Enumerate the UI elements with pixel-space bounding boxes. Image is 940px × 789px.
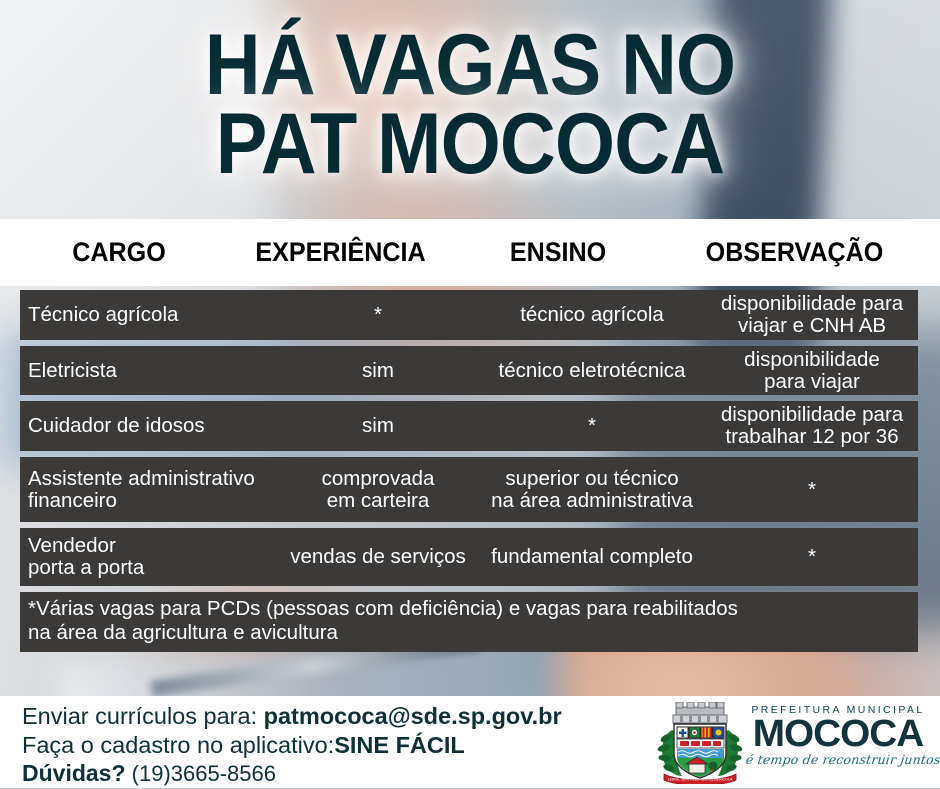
cell-cargo: Eletricista bbox=[20, 360, 278, 382]
cell-experiencia: vendas de serviços bbox=[278, 546, 478, 568]
page-title: HÁ VAGAS NO PAT MOCOCA bbox=[47, 26, 893, 184]
cell-ensino: superior ou técnico na área administrati… bbox=[478, 468, 706, 512]
footer-phone-label: Dúvidas? bbox=[22, 760, 126, 786]
cell-observacao: disponibilidade para trabalhar 12 por 36 bbox=[706, 404, 918, 448]
footer-email-value[interactable]: patmococa@sde.sp.gov.br bbox=[264, 703, 562, 729]
mococa-city-logo: LEBRA, BEM PELO SEU GENERICOLA PREFEITUR… bbox=[650, 700, 930, 786]
cell-ensino: técnico eletrotécnica bbox=[478, 360, 706, 382]
footer-email-line: Enviar currículos para: patmococa@sde.sp… bbox=[22, 702, 642, 731]
table-header-row: CARGO EXPERIÊNCIA ENSINO OBSERVAÇÃO bbox=[0, 219, 940, 286]
logo-city-name: MOCOCA bbox=[744, 716, 932, 752]
cell-observacao: disponibilidade para viajar e CNH AB bbox=[706, 293, 918, 337]
footer-contact-block: Enviar currículos para: patmococa@sde.sp… bbox=[22, 702, 642, 789]
cell-observacao: * bbox=[706, 546, 918, 568]
footer-app-value: SINE FÁCIL bbox=[334, 732, 465, 758]
footer-app-label: Faça o cadastro no aplicativo: bbox=[22, 732, 334, 758]
table-row: Eletricista sim técnico eletrotécnica di… bbox=[20, 346, 918, 395]
cell-cargo: Assistente administrativo financeiro bbox=[20, 468, 278, 512]
cell-cargo: Vendedor porta a porta bbox=[20, 535, 278, 579]
cell-ensino: fundamental completo bbox=[478, 546, 706, 568]
cell-experiencia: sim bbox=[278, 360, 478, 382]
column-header-observacao: OBSERVAÇÃO bbox=[682, 237, 908, 268]
cell-observacao: disponibilidade para viajar bbox=[706, 349, 918, 393]
footer-app-line: Faça o cadastro no aplicativo:SINE FÁCIL bbox=[22, 731, 642, 760]
coat-of-arms-icon: LEBRA, BEM PELO SEU GENERICOLA bbox=[656, 702, 744, 784]
cell-experiencia: * bbox=[278, 304, 478, 326]
footer-phone-value: (19)3665-8566 bbox=[126, 761, 276, 786]
vacancies-table: Técnico agrícola * técnico agrícola disp… bbox=[20, 290, 918, 652]
cell-cargo: Técnico agrícola bbox=[20, 304, 278, 326]
table-footnote: *Várias vagas para PCDs (pessoas com def… bbox=[20, 592, 918, 652]
table-row: Vendedor porta a porta vendas de serviço… bbox=[20, 528, 918, 586]
table-row: Técnico agrícola * técnico agrícola disp… bbox=[20, 290, 918, 340]
cell-experiencia: comprovada em carteira bbox=[278, 468, 478, 512]
footer-phone-line: Dúvidas? (19)3665-8566 bbox=[22, 759, 642, 789]
column-header-ensino: ENSINO bbox=[451, 237, 665, 268]
footer-email-label: Enviar currículos para: bbox=[22, 703, 264, 729]
logo-wordmark: PREFEITURA MUNICIPAL MOCOCA é tempo de r… bbox=[746, 704, 930, 767]
cell-cargo: Cuidador de idosos bbox=[20, 415, 278, 437]
cell-observacao: * bbox=[706, 479, 918, 501]
cell-ensino: técnico agrícola bbox=[478, 304, 706, 326]
logo-tagline: é tempo de reconstruir juntos! bbox=[745, 752, 931, 767]
column-header-experiencia: EXPERIÊNCIA bbox=[245, 237, 436, 268]
cell-experiencia: sim bbox=[278, 415, 478, 437]
page-title-line2: PAT MOCOCA bbox=[216, 96, 724, 192]
cell-ensino: * bbox=[478, 415, 706, 437]
crest-banner-text: LEBRA, BEM PELO SEU GENERICOLA bbox=[668, 777, 733, 781]
column-header-cargo: CARGO bbox=[8, 237, 229, 268]
table-row: Cuidador de idosos sim * disponibilidade… bbox=[20, 401, 918, 451]
table-row: Assistente administrativo financeiro com… bbox=[20, 457, 918, 522]
